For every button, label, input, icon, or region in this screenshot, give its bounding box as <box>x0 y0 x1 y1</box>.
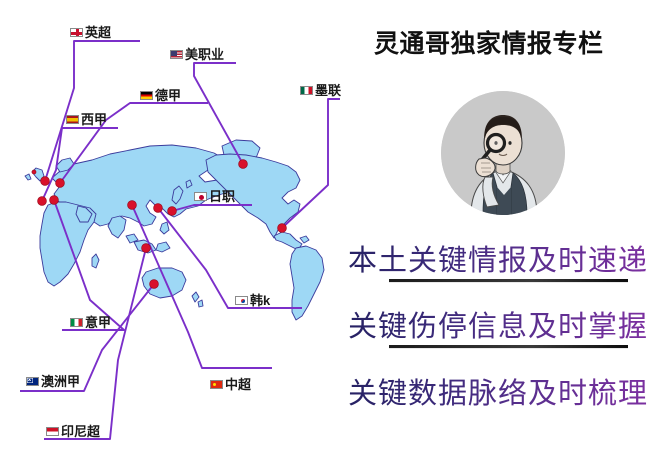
spain-flag-icon <box>66 115 79 124</box>
england-flag-icon <box>70 28 83 37</box>
marker-idn <box>142 244 151 253</box>
league-label-jpn[interactable]: 日职 <box>194 190 235 203</box>
league-label-chn[interactable]: 中超 <box>210 378 251 391</box>
league-name-aus: 澳洲甲 <box>41 375 80 388</box>
league-name-eng: 英超 <box>85 26 111 39</box>
league-name-idn: 印尼超 <box>61 425 100 438</box>
germany-flag-icon <box>140 91 153 100</box>
marker-mex <box>278 224 287 233</box>
league-label-kor[interactable]: 韩k <box>235 294 270 307</box>
slogan-divider-1 <box>389 279 628 282</box>
slogan-line-3: 关键数据脉络及时梳理 <box>348 370 648 412</box>
league-name-ger: 德甲 <box>155 89 181 102</box>
poster-canvas: 英超 美职业 德甲 西甲 墨联 日职 韩k 意甲 <box>0 0 650 459</box>
league-label-ita[interactable]: 意甲 <box>70 316 111 329</box>
league-label-usa[interactable]: 美职业 <box>170 48 224 61</box>
japan-flag-icon <box>194 192 207 201</box>
marker-jpn <box>168 207 177 216</box>
avatar-illustration <box>441 91 565 215</box>
avatar <box>441 91 565 215</box>
marker-aus <box>150 280 159 289</box>
league-label-ger[interactable]: 德甲 <box>140 89 181 102</box>
league-label-aus[interactable]: 澳洲甲 <box>26 375 80 388</box>
league-name-usa: 美职业 <box>185 48 224 61</box>
league-name-kor: 韩k <box>250 294 270 307</box>
world-map-panel: 英超 美职业 德甲 西甲 墨联 日职 韩k 意甲 <box>0 0 340 459</box>
league-name-jpn: 日职 <box>209 190 235 203</box>
league-label-mex[interactable]: 墨联 <box>300 84 341 97</box>
marker-esp <box>38 197 47 206</box>
marker-kor <box>154 204 163 213</box>
page-title: 灵通哥独家情报专栏 <box>374 24 604 60</box>
marker-ger <box>56 179 65 188</box>
slogan-line-1: 本土关键情报及时速递 <box>348 237 648 279</box>
marker-usa <box>239 160 248 169</box>
mexico-flag-icon <box>300 86 313 95</box>
australia-flag-icon <box>26 377 39 386</box>
marker-eng <box>41 177 50 186</box>
connector-usa <box>194 63 243 164</box>
slogan-line-2: 关键伤停信息及时掌握 <box>348 303 648 345</box>
china-flag-icon <box>210 380 223 389</box>
league-name-mex: 墨联 <box>315 84 341 97</box>
indonesia-flag-icon <box>46 427 59 436</box>
league-label-esp[interactable]: 西甲 <box>66 113 107 126</box>
korea-flag-icon <box>235 296 248 305</box>
usa-flag-icon <box>170 50 183 59</box>
marker-ita <box>50 196 59 205</box>
marker-eng-small <box>32 170 36 174</box>
league-name-esp: 西甲 <box>81 113 107 126</box>
italy-flag-icon <box>70 318 83 327</box>
marker-chn <box>128 201 137 210</box>
league-name-ita: 意甲 <box>85 316 111 329</box>
league-name-chn: 中超 <box>225 378 251 391</box>
slogan-divider-2 <box>389 345 628 348</box>
league-label-eng[interactable]: 英超 <box>70 26 111 39</box>
world-map-svg <box>0 0 340 459</box>
league-label-idn[interactable]: 印尼超 <box>46 425 100 438</box>
